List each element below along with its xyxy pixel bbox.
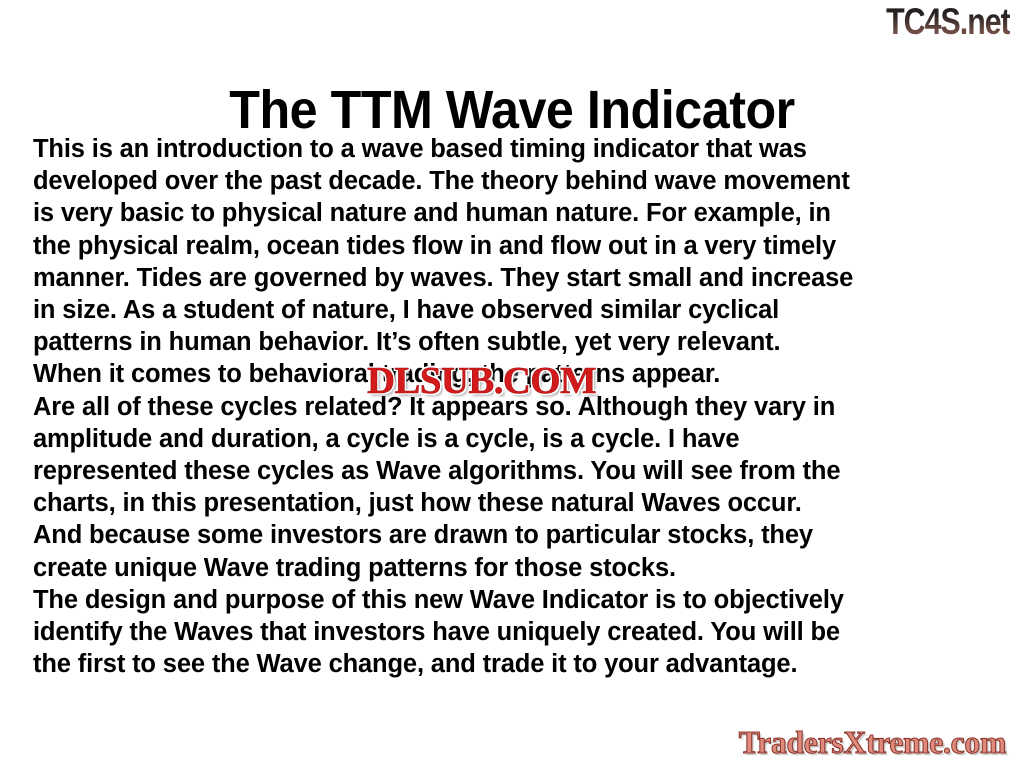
body-line: in size. As a student of nature, I have …: [33, 294, 995, 326]
body-copy: This is an introduction to a wave based …: [33, 133, 995, 680]
page-title: The TTM Wave Indicator: [36, 80, 988, 140]
body-line: The design and purpose of this new Wave …: [33, 584, 995, 616]
body-line: the physical realm, ocean tides flow in …: [33, 230, 995, 262]
body-line: the first to see the Wave change, and tr…: [33, 648, 995, 680]
body-line: is very basic to physical nature and hum…: [33, 197, 995, 229]
body-line: developed over the past decade. The theo…: [33, 165, 995, 197]
slide-canvas: TC4S.net The TTM Wave Indicator This is …: [0, 0, 1024, 768]
dlsub-watermark: DLSUB.COM: [367, 362, 596, 400]
body-line: patterns in human behavior. It’s often s…: [33, 326, 995, 358]
body-line: represented these cycles as Wave algorit…: [33, 455, 995, 487]
body-line: create unique Wave trading patterns for …: [33, 552, 995, 584]
body-line: manner. Tides are governed by waves. The…: [33, 262, 995, 294]
body-line: This is an introduction to a wave based …: [33, 133, 995, 165]
tc4s-logo: TC4S.net: [886, 2, 1010, 42]
body-line: charts, in this presentation, just how t…: [33, 487, 995, 519]
body-line: amplitude and duration, a cycle is a cyc…: [33, 423, 995, 455]
paragraph-2: The design and purpose of this new Wave …: [33, 584, 995, 681]
paragraph-1: This is an introduction to a wave based …: [33, 133, 995, 584]
body-line: And because some investors are drawn to …: [33, 519, 995, 551]
tradersxtreme-logo: TradersXtreme.com: [739, 724, 1006, 760]
body-line: identify the Waves that investors have u…: [33, 616, 995, 648]
